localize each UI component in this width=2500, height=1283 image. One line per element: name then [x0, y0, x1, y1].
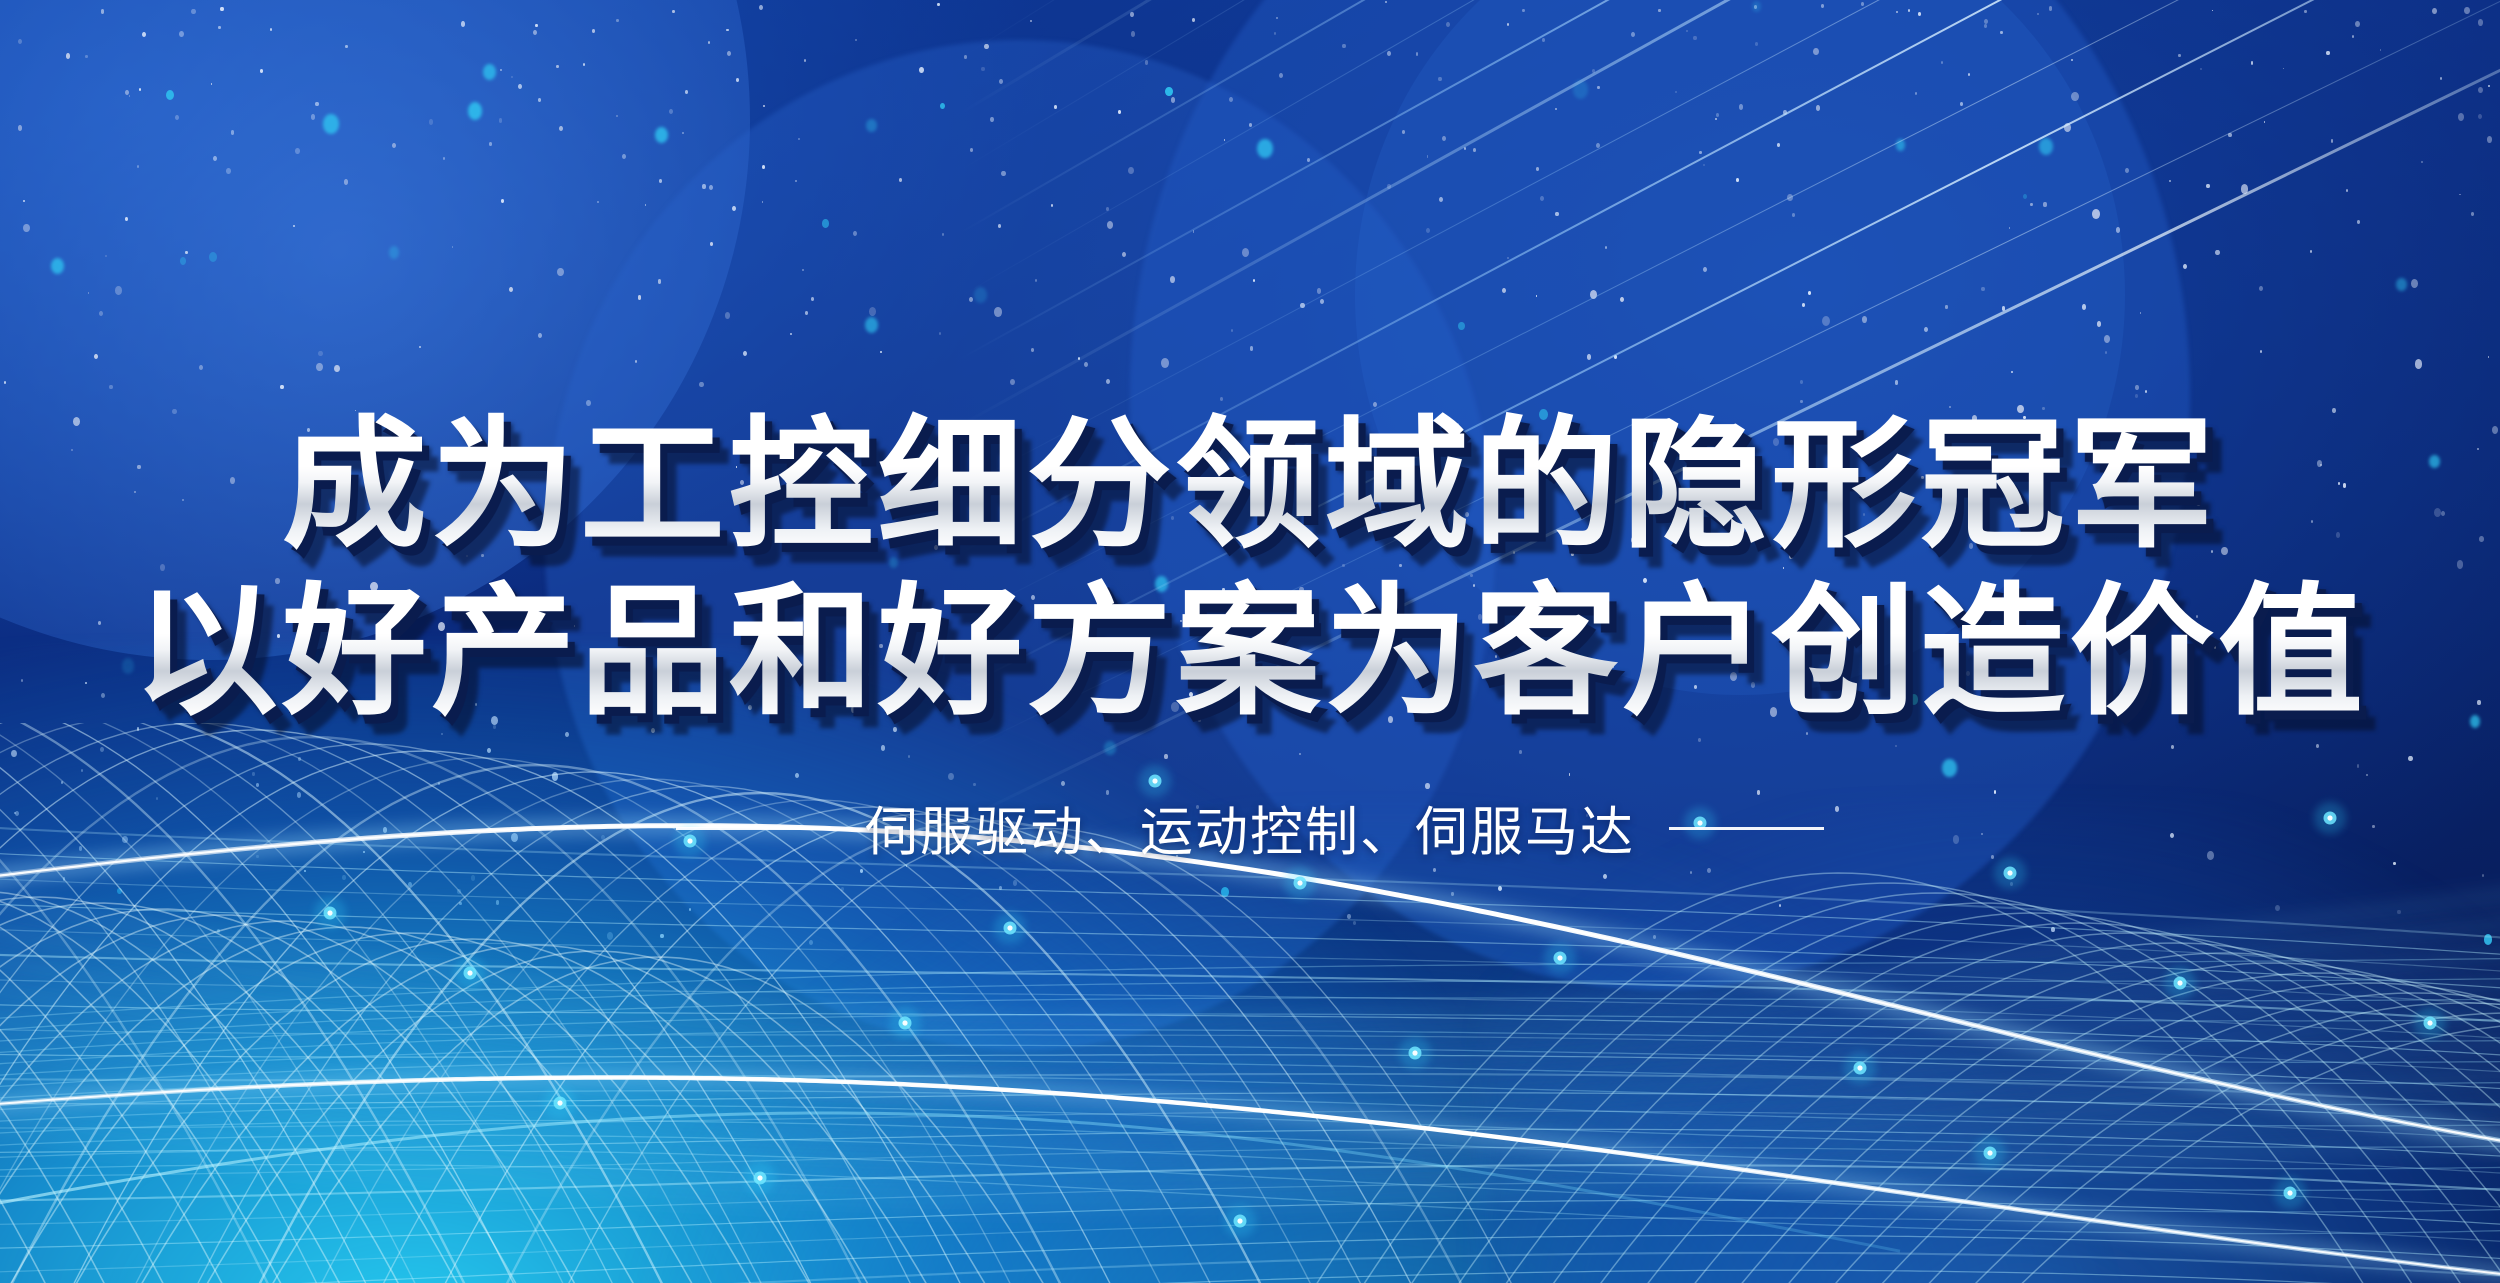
subtitle-rule-right — [1669, 827, 1824, 830]
headline-line-1: 成为工控细分领域的隐形冠军 — [0, 408, 2500, 563]
subtitle-rule-left — [676, 827, 831, 830]
subtitle-text: 伺服驱动、运动控制、伺服马达 — [865, 790, 1635, 866]
banner-content: 成为工控细分领域的隐形冠军 以好产品和好方案为客户创造价值 伺服驱动、运动控制、… — [0, 0, 2500, 866]
headline-block: 成为工控细分领域的隐形冠军 以好产品和好方案为客户创造价值 — [0, 0, 2500, 730]
promo-banner: 成为工控细分领域的隐形冠军 以好产品和好方案为客户创造价值 伺服驱动、运动控制、… — [0, 0, 2500, 1283]
subtitle-row: 伺服驱动、运动控制、伺服马达 — [0, 790, 2500, 866]
headline-line-2: 以好产品和好方案为客户创造价值 — [0, 575, 2500, 730]
